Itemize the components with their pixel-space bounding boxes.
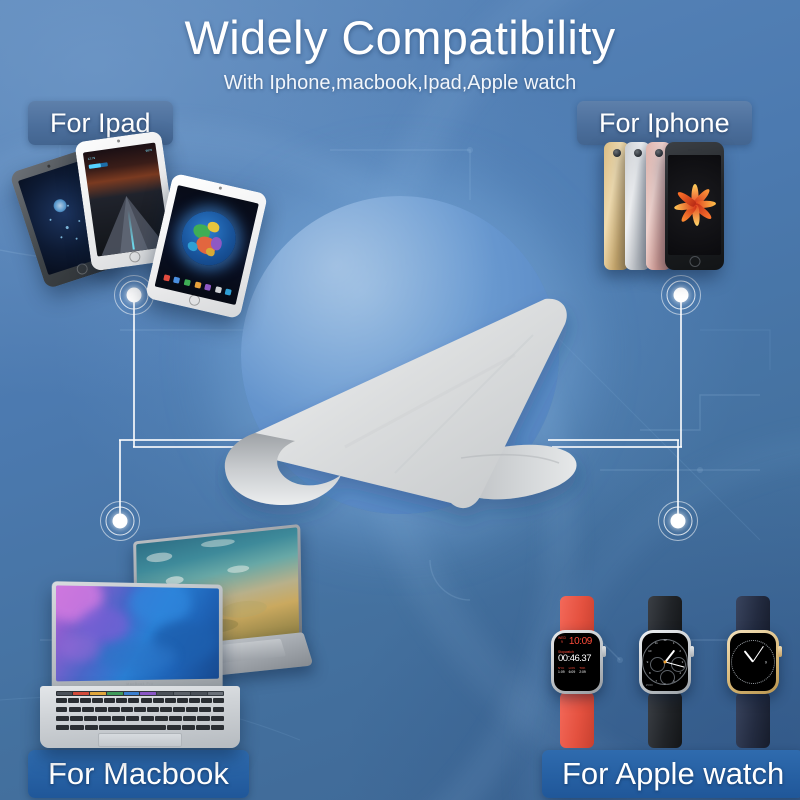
node-apple-watch[interactable]	[658, 501, 698, 541]
watch-time: 10:09	[569, 637, 592, 647]
badge-for-iphone[interactable]: For Iphone	[577, 101, 752, 145]
world-globe-graphic	[176, 206, 241, 271]
dial-marker: 9	[765, 660, 767, 665]
iphone-device-group	[604, 142, 724, 274]
dial-numeral: 7	[655, 679, 657, 683]
city-time: 1:09	[558, 670, 565, 674]
dial-numeral: 2	[679, 649, 681, 653]
dial-numeral: 11	[655, 641, 658, 645]
iphone-space-gray	[665, 142, 724, 270]
city-time: 6:09	[569, 670, 576, 674]
ipad-device-group: 12:79 9870	[30, 138, 265, 303]
chronograph-status: 15:00	[646, 683, 653, 687]
game-hud-left: 12:79	[87, 156, 95, 161]
game-hud-right: 9870	[145, 148, 152, 153]
page-title: Widely Compatibility	[0, 10, 800, 65]
microfiber-cloth-product	[215, 215, 595, 535]
dial-numeral: 1	[673, 641, 675, 645]
badge-for-macbook[interactable]: For Macbook	[28, 750, 249, 798]
dial-numeral: 12	[663, 638, 666, 642]
simple-dial: 9	[730, 633, 776, 691]
node-iphone[interactable]	[661, 275, 701, 315]
abstract-wave-wallpaper	[56, 585, 219, 681]
badge-for-apple-watch[interactable]: For Apple watch	[542, 750, 800, 798]
macbook-device-group: MacBook Pro	[34, 525, 324, 750]
wire-ipad-vertical	[133, 295, 135, 447]
apple-watch-black-chronograph: 12 1 2 3 4 5 6 7 8 9 10 11	[628, 596, 702, 748]
wire-iphone-vertical	[680, 295, 682, 447]
dial-numeral: 9	[647, 660, 649, 664]
page-subtitle: With Iphone,macbook,Ipad,Apple watch	[0, 72, 800, 95]
apple-watch-device-group: WED 9 10:09 Stopwatch 00:46.37 NYC 1:09 …	[540, 596, 790, 751]
apple-watch-red-stopwatch: WED 9 10:09 Stopwatch 00:46.37 NYC 1:09 …	[540, 596, 614, 748]
chronograph-dial: 12 1 2 3 4 5 6 7 8 9 10 11	[642, 633, 688, 691]
6s-flower-wallpaper	[673, 183, 717, 227]
macbook-keyboard[interactable]	[55, 698, 225, 730]
touch-bar[interactable]	[56, 691, 224, 696]
watch-day: 9	[558, 641, 566, 645]
macbook-trackpad[interactable]	[98, 733, 182, 747]
infographic-canvas: Widely Compatibility With Iphone,macbook…	[0, 0, 800, 800]
dial-numeral: 8	[649, 671, 651, 675]
apple-watch-navy-simple: 9	[716, 596, 790, 748]
dial-numeral: 10	[648, 649, 651, 653]
macbook-silver: MacBook Pro	[40, 583, 240, 748]
stopwatch-elapsed: 00:46.37	[558, 654, 596, 664]
city-time: 2:09	[579, 670, 586, 674]
